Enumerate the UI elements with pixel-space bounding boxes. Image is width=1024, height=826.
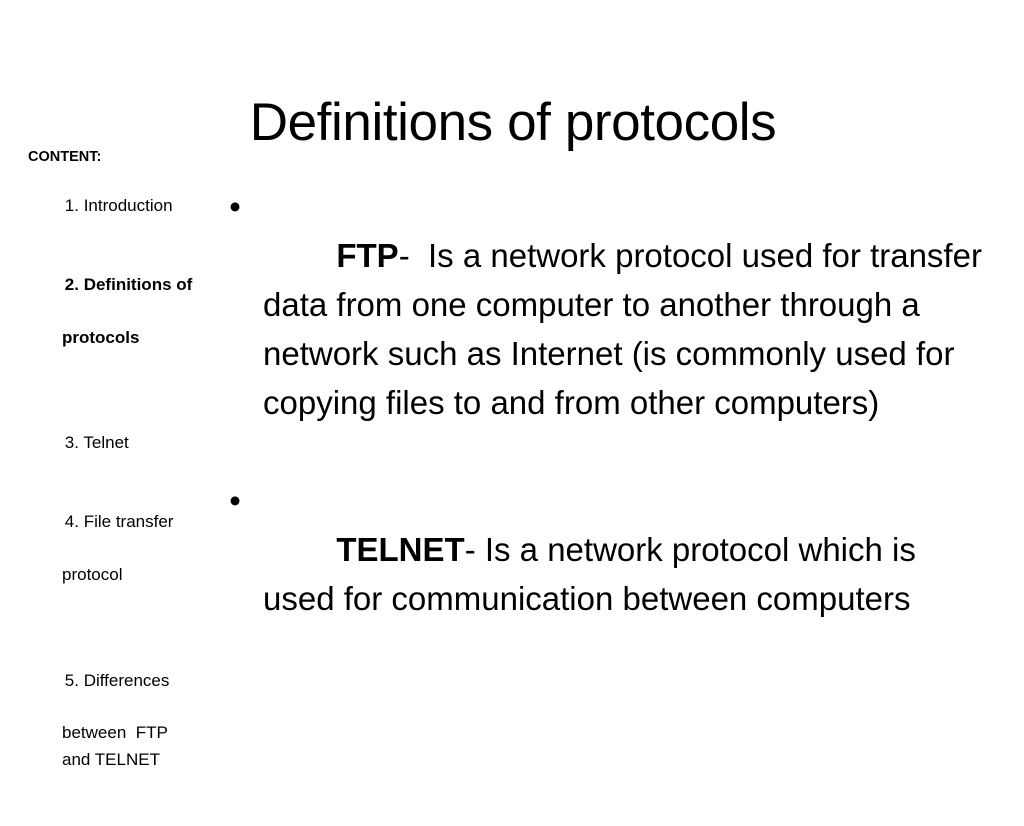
- toc-item-4[interactable]: 4. File transfer protocol: [0, 483, 208, 641]
- toc-item-label: 3. Telnet: [65, 433, 129, 452]
- bullet-lead-term: TELNET: [336, 531, 464, 568]
- toc-heading: CONTENT:: [0, 147, 208, 167]
- toc-item-1[interactable]: 1. Introduction: [0, 167, 208, 246]
- page-title: Definitions of protocols: [190, 94, 836, 152]
- bullet-point-icon: •: [229, 476, 241, 525]
- toc-item-2[interactable]: 2. Definitions of protocols: [0, 246, 208, 404]
- table-of-contents: CONTENT: 1. Introduction 2. Definitions …: [0, 147, 208, 826]
- bullet-lead-term: FTP: [336, 237, 398, 274]
- toc-list: 1. Introduction 2. Definitions of protoc…: [0, 167, 208, 826]
- bullet-list: •FTP- Is a network protocol used for tra…: [222, 182, 982, 672]
- bullet-point-icon: •: [229, 182, 241, 231]
- toc-item-label: 5. Differences: [65, 671, 170, 690]
- slide-canvas: Definitions of protocols CONTENT: 1. Int…: [0, 0, 1024, 768]
- toc-item-label-continuation: protocols: [27, 325, 204, 351]
- bullet-item-ftp: •FTP- Is a network protocol used for tra…: [222, 182, 982, 476]
- toc-item-label: 2. Definitions of: [65, 275, 193, 294]
- bullet-item-telnet: •TELNET- Is a network protocol which is …: [222, 476, 982, 672]
- toc-item-5[interactable]: 5. Differences between FTP and TELNET: [0, 641, 208, 825]
- toc-item-label-continuation: protocol: [27, 562, 204, 588]
- toc-item-label: 4. File transfer: [65, 512, 174, 531]
- toc-item-3[interactable]: 3. Telnet: [0, 404, 208, 483]
- slide-body: •FTP- Is a network protocol used for tra…: [222, 182, 982, 672]
- toc-item-label: 1. Introduction: [65, 196, 173, 215]
- toc-item-label-continuation: between FTP and TELNET: [27, 720, 204, 773]
